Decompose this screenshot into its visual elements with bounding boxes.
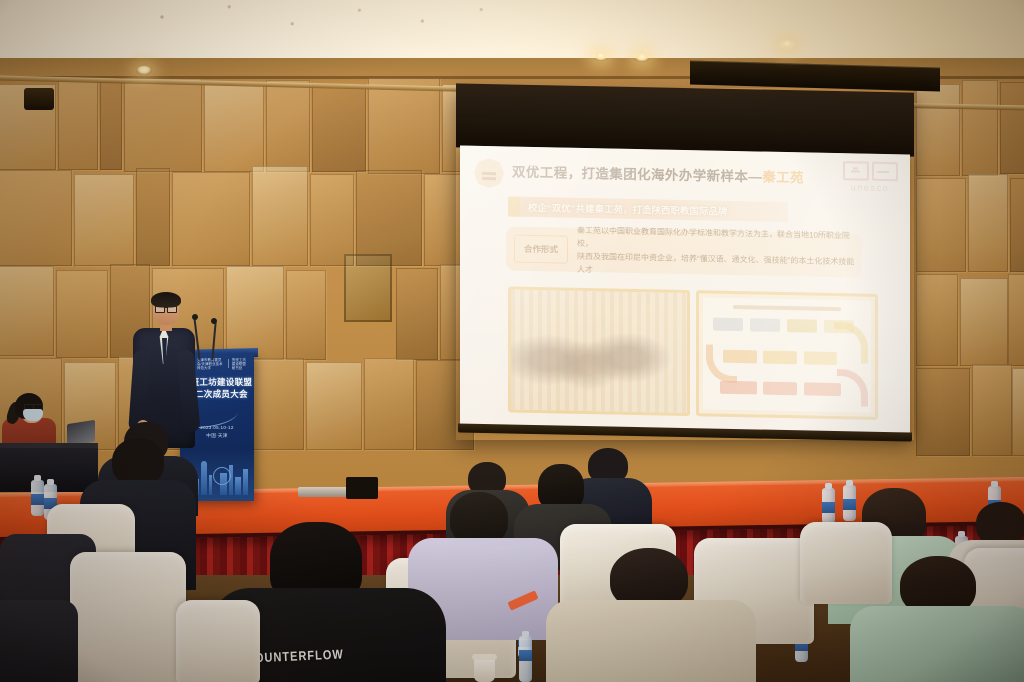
audience-front-right-dark	[856, 556, 1024, 682]
meeting-photo-image	[511, 290, 687, 414]
water-bottle	[31, 480, 44, 516]
screen-masking-band	[456, 83, 914, 156]
audience-area: COUNTERFLOW	[0, 430, 1024, 682]
person-body	[850, 606, 1024, 682]
slide-title-text: 双优工程，打造集团化海外办学新样本—	[512, 165, 762, 185]
microphone-head-right	[211, 318, 217, 324]
downlight-3	[634, 53, 650, 62]
content-lines: 秦工苑以中国职业教育国际化办学标准和教学方法为主，联合当地10所职业院校， 陕西…	[577, 224, 862, 282]
unesco-temple-icon	[843, 161, 869, 181]
screen-surface: 双优工程，打造集团化海外办学新样本—秦工苑 unesco 校企“双优”共建秦工苑…	[460, 145, 910, 434]
conference-hall-scene: 双优工程，打造集团化海外办学新样本—秦工苑 unesco 校企“双优”共建秦工苑…	[0, 0, 1024, 682]
chair	[0, 600, 78, 682]
slide-subtitle-text: 校企“双优”共建秦工苑，打造陕西职教国际品牌	[520, 200, 728, 218]
downlight-2	[593, 52, 609, 61]
downlight-5	[779, 40, 795, 49]
paper-cup	[474, 658, 495, 682]
slide-bullet-icon	[474, 158, 504, 189]
chair	[70, 552, 186, 682]
slide-photo-meeting	[508, 286, 690, 416]
podium-org-right: 鲁班工坊建设联盟秘书处	[232, 358, 249, 370]
audience-beige-coat	[556, 548, 746, 682]
person-head	[112, 438, 164, 486]
unesco-wordmark: unesco	[840, 182, 900, 193]
unesco-glyphs	[840, 161, 900, 181]
downlight-1	[136, 66, 152, 75]
person-body	[546, 600, 756, 682]
unesco-emblem-icon	[872, 162, 898, 182]
subtitle-accent-block	[508, 196, 520, 216]
slide-title: 双优工程，打造集团化海外办学新样本—秦工苑	[512, 161, 830, 187]
speaker-glasses-icon	[155, 306, 177, 311]
slide-content-box: 合作形式 秦工苑以中国职业教育国际化办学标准和教学方法为主，联合当地10所职业院…	[506, 226, 862, 277]
water-bottle	[519, 636, 532, 682]
presentation-slide: 双优工程，打造集团化海外办学新样本—秦工苑 unesco 校企“双优”共建秦工苑…	[460, 145, 910, 434]
wall-speaker	[24, 88, 54, 110]
water-bottle	[822, 488, 835, 524]
unesco-logo: unesco	[840, 161, 900, 193]
projection-screen: 双优工程，打造集团化海外办学新样本—秦工苑 unesco 校企“双优”共建秦工苑…	[456, 88, 914, 440]
slide-title-highlight: 秦工苑	[762, 170, 804, 186]
chair	[176, 600, 260, 682]
staff-glasses-icon	[24, 404, 43, 408]
staff-face-mask	[23, 409, 43, 421]
process-diagram-image	[703, 297, 871, 412]
content-tag-label: 合作形式	[514, 235, 568, 264]
content-line-2: 陕西及我国在印尼中资企业，培养“懂汉语、通文化、强技能”的本土化技术技能人才	[577, 250, 862, 282]
slide-subtitle-bar: 校企“双优”共建秦工苑，打造陕西职教国际品牌	[508, 196, 788, 222]
slide-photo-diagram	[696, 290, 878, 420]
